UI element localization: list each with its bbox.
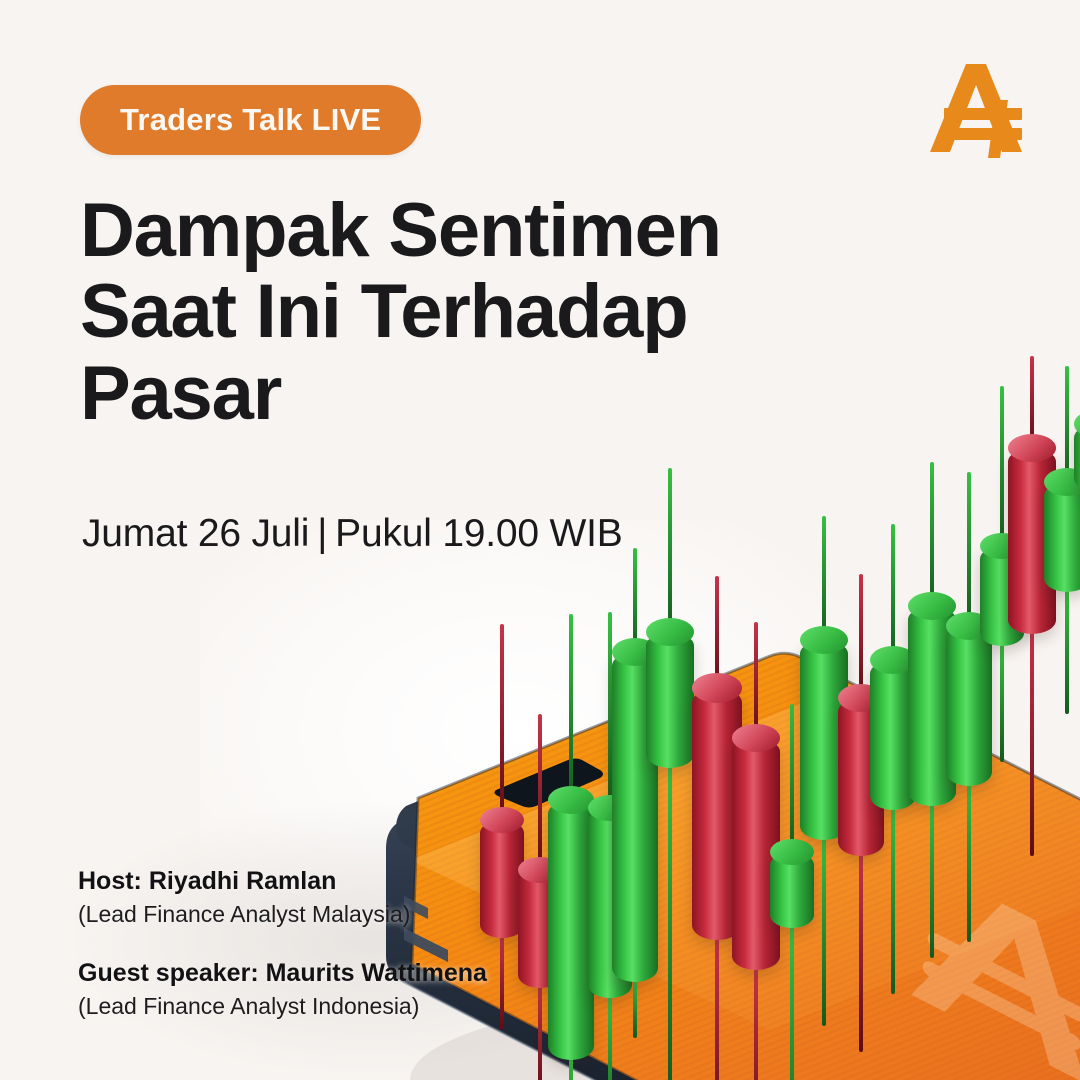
headline-line-3: Pasar — [80, 353, 840, 434]
candle-top-cap — [1008, 434, 1056, 462]
credit-guest: Guest speaker: Maurits Wattimena (Lead F… — [78, 958, 487, 1022]
headline-line-1: Dampak Sentimen — [80, 190, 840, 271]
event-time: Pukul 19.00 WIB — [335, 512, 622, 555]
candle-body — [1074, 424, 1080, 492]
a-logo-icon — [922, 52, 1032, 162]
candle-top-cap — [1074, 410, 1080, 438]
live-badge-label: Traders Talk LIVE — [120, 102, 381, 138]
candle-18-green — [1074, 424, 1080, 492]
candle-top-cap — [980, 533, 1024, 559]
brand-logo — [922, 52, 1032, 162]
candle-top-cap — [1044, 468, 1080, 496]
event-date: Jumat 26 Juli — [82, 512, 309, 555]
candle-wick-upper — [1065, 366, 1069, 486]
headline-line-2: Saat Ini Terhadap — [80, 271, 840, 352]
datetime-separator: | — [309, 512, 335, 555]
live-badge[interactable]: Traders Talk LIVE — [80, 85, 421, 155]
guest-name: Guest speaker: Maurits Wattimena — [78, 958, 487, 989]
candle-wick-upper — [1000, 386, 1004, 550]
credit-host: Host: Riyadhi Ramlan (Lead Finance Analy… — [78, 866, 487, 930]
host-name: Host: Riyadhi Ramlan — [78, 866, 487, 897]
guest-role: (Lead Finance Analyst Indonesia) — [78, 992, 487, 1022]
event-datetime: Jumat 26 Juli|Pukul 19.00 WIB — [82, 512, 623, 556]
candle-wick-upper — [1030, 356, 1034, 452]
speaker-credits: Host: Riyadhi Ramlan (Lead Finance Analy… — [78, 866, 487, 1050]
host-role: (Lead Finance Analyst Malaysia) — [78, 900, 487, 930]
page-title: Dampak Sentimen Saat Ini Terhadap Pasar — [80, 190, 840, 434]
promo-poster: Traders Talk LIVE Dampak Sentimen Saat I… — [0, 0, 1080, 1080]
